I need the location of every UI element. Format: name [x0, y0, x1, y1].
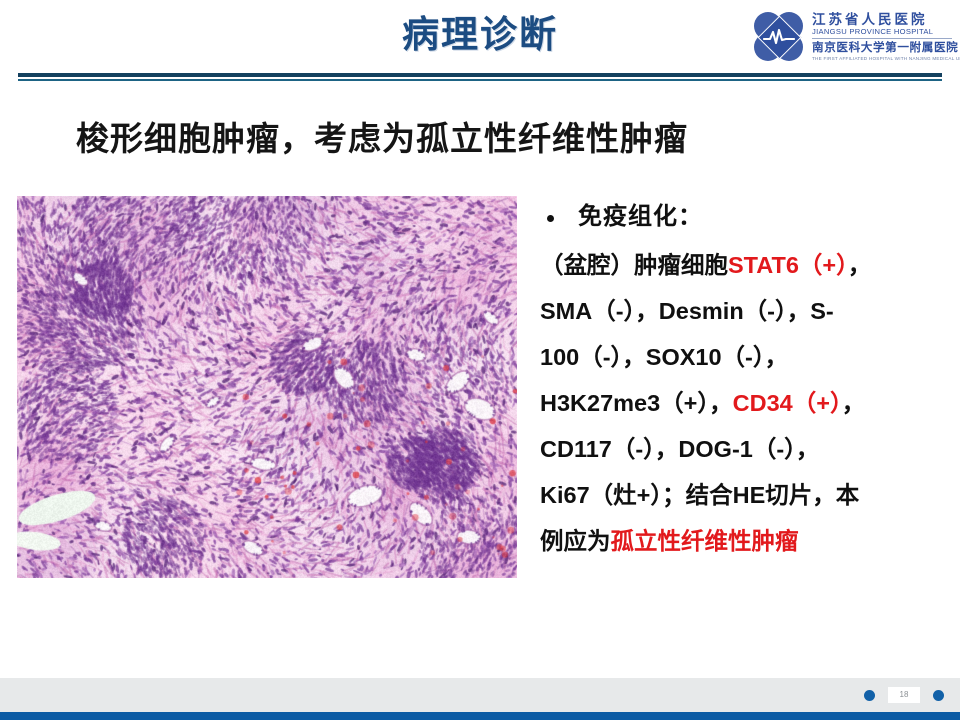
ihc-result-line: 例应为孤立性纤维性肿瘤: [540, 518, 952, 564]
ihc-result-line: （盆腔）肿瘤细胞STAT6（+），: [540, 242, 952, 288]
ihc-text-segment: ，: [848, 252, 872, 278]
ihc-result-line: CD117（-），DOG-1（-），: [540, 426, 952, 472]
ihc-text-segment: 100（-），SOX10（-），: [540, 344, 788, 370]
hospital-logo: 江苏省人民医院 JIANGSU PROVINCE HOSPITAL 南京医科大学…: [752, 8, 952, 66]
ihc-text-segment: （盆腔）肿瘤细胞: [540, 252, 728, 278]
hospital-name-cn-secondary: 南京医科大学第一附属医院: [812, 41, 952, 55]
divider-rule-thick: [18, 73, 942, 77]
ihc-text-segment: Ki67（灶+）；结合HE切片，本: [540, 482, 859, 508]
previous-slide-dot-icon[interactable]: [864, 690, 875, 701]
ihc-result-line: Ki67（灶+）；结合HE切片，本: [540, 472, 952, 518]
ihc-positive-highlight: 孤立性纤维性肿瘤: [611, 528, 799, 554]
slide-header: 病理诊断 江苏省人民医院 JIANGSU PROVINCE HOSPITAL 南…: [0, 0, 960, 76]
diagnosis-heading: 梭形细胞肿瘤，考虑为孤立性纤维性肿瘤: [76, 116, 688, 162]
page-number: 18: [888, 687, 921, 703]
bullet-point-icon: [547, 215, 554, 222]
ihc-bullet-row: 免疫组化：: [540, 196, 952, 242]
ihc-text-segment: SMA（-），Desmin（-），S-: [540, 298, 834, 324]
hospital-name-en-secondary: THE FIRST AFFILIATED HOSPITAL WITH NANJI…: [812, 55, 952, 62]
hospital-name-cn-primary: 江苏省人民医院: [812, 12, 952, 27]
ihc-text-segment: 例应为: [540, 528, 611, 554]
slide-navigation: 18: [864, 686, 944, 704]
ihc-positive-highlight: STAT6（+）: [728, 252, 848, 278]
immunohistochemistry-text-block: 免疫组化： （盆腔）肿瘤细胞STAT6（+），SMA（-），Desmin（-），…: [540, 196, 952, 564]
presentation-slide: 病理诊断 江苏省人民医院 JIANGSU PROVINCE HOSPITAL 南…: [0, 0, 960, 720]
header-divider: [18, 73, 942, 82]
ihc-result-line: 100（-），SOX10（-），: [540, 334, 952, 380]
ihc-section-label: 免疫组化：: [578, 196, 703, 238]
ihc-text-segment: ，: [842, 390, 866, 416]
divider-rule-thin: [18, 79, 942, 81]
histology-canvas: [17, 196, 517, 578]
ihc-result-line: H3K27me3（+），CD34（+），: [540, 380, 952, 426]
next-slide-dot-icon[interactable]: [933, 690, 944, 701]
hospital-emblem-ecg-icon: [752, 10, 806, 64]
ihc-result-lines: （盆腔）肿瘤细胞STAT6（+），SMA（-），Desmin（-），S-100（…: [540, 242, 952, 564]
footer-accent-bar: [0, 712, 960, 720]
ecg-waveform-icon: [763, 28, 795, 46]
ihc-text-segment: CD117（-），DOG-1（-），: [540, 436, 819, 462]
footer-band: [0, 678, 960, 712]
ihc-text-segment: H3K27me3（+），: [540, 390, 733, 416]
histology-micrograph-image: [17, 196, 517, 578]
hospital-name-en-primary: JIANGSU PROVINCE HOSPITAL: [812, 27, 952, 37]
logo-divider: [812, 38, 952, 39]
ihc-positive-highlight: CD34（+）: [733, 390, 842, 416]
ihc-result-line: SMA（-），Desmin（-），S-: [540, 288, 952, 334]
hospital-logo-text: 江苏省人民医院 JIANGSU PROVINCE HOSPITAL 南京医科大学…: [812, 12, 952, 62]
